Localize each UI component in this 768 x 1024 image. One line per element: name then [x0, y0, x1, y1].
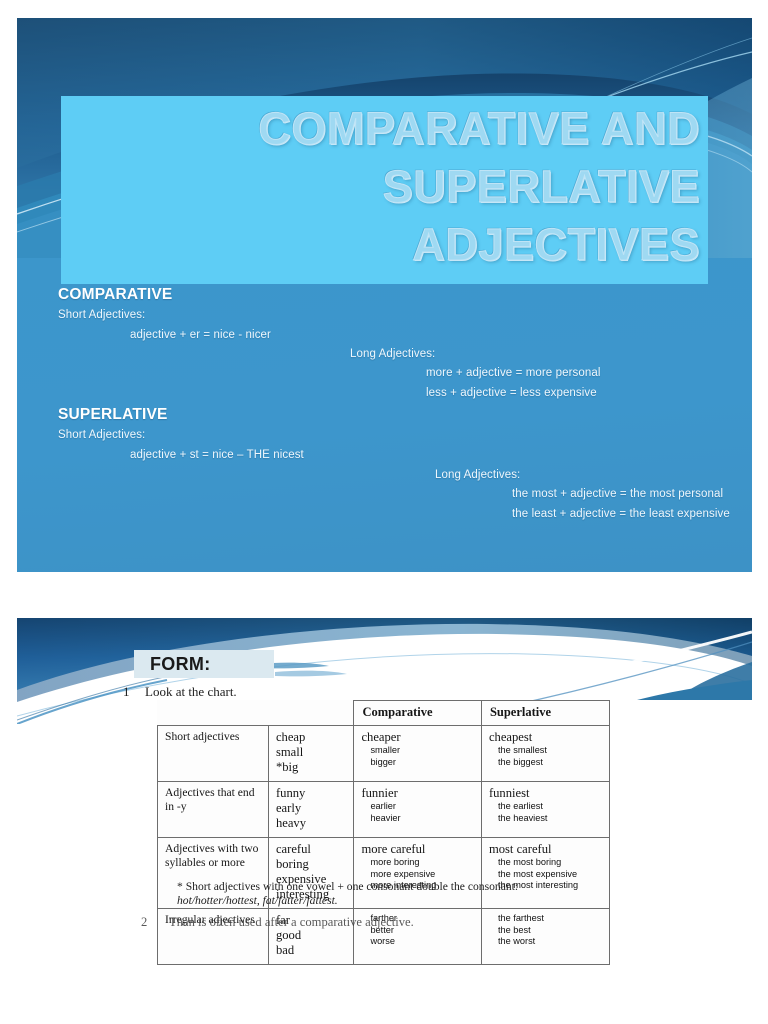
- comparative-main: more careful: [361, 842, 474, 857]
- superlative-alt: the earliest: [489, 801, 602, 813]
- comparative-short-label: Short Adjectives:: [58, 309, 145, 321]
- instruction-1-text: Look at the chart.: [145, 684, 237, 699]
- superlative-alt: the farthest: [489, 913, 602, 925]
- instruction-than-usage: 2Than is often used after a comparative …: [141, 915, 414, 930]
- base-word: funny: [276, 786, 346, 801]
- superlative-alt: the best: [489, 925, 602, 937]
- comparative-alt: bigger: [361, 757, 474, 769]
- superlative-alt: the most expensive: [489, 869, 602, 881]
- comparative-alt: smaller: [361, 745, 474, 757]
- comparative-alt: worse: [361, 936, 474, 948]
- footnote-line-2: hot/hotter/hottest, fat/fatter/fattest.: [177, 894, 647, 908]
- superlative-long-label: Long Adjectives:: [435, 469, 520, 481]
- slide1-content: COMPARATIVE Short Adjectives: adjective …: [17, 18, 752, 572]
- row-base-forms: funny early heavy: [268, 782, 353, 838]
- form-heading-box: FORM:: [134, 650, 274, 678]
- instruction-1-number: 1: [123, 684, 145, 700]
- row-superlative-forms: funniest the earliest the heaviest: [481, 782, 609, 838]
- base-word: careful: [276, 842, 346, 857]
- superlative-short-rule: adjective + st = nice – THE nicest: [130, 449, 304, 461]
- header-blank-2: [268, 701, 353, 726]
- comparative-alt: more boring: [361, 857, 474, 869]
- row-superlative-forms: the farthest the best the worst: [481, 909, 609, 965]
- instruction-look-at-chart: 1Look at the chart.: [123, 684, 237, 700]
- comparative-main: funnier: [361, 786, 474, 801]
- superlative-alt: the worst: [489, 936, 602, 948]
- superlative-short-label: Short Adjectives:: [58, 429, 145, 441]
- superlative-main: cheapest: [489, 730, 602, 745]
- superlative-main: funniest: [489, 786, 602, 801]
- base-word: *big: [276, 760, 346, 775]
- comparative-alt: more expensive: [361, 869, 474, 881]
- heading-comparative: COMPARATIVE: [58, 286, 172, 304]
- slide-form-chart: FORM: 1Look at the chart. Comparative Su…: [17, 612, 752, 1024]
- superlative-alt: the smallest: [489, 745, 602, 757]
- comparative-alt: heavier: [361, 813, 474, 825]
- form-heading-label: FORM:: [150, 654, 210, 675]
- superlative-alt: the most boring: [489, 857, 602, 869]
- base-word: boring: [276, 857, 346, 872]
- base-word: small: [276, 745, 346, 760]
- base-word: heavy: [276, 816, 346, 831]
- table-row: Short adjectives cheap small *big cheape…: [158, 726, 610, 782]
- base-word: early: [276, 801, 346, 816]
- heading-superlative: SUPERLATIVE: [58, 406, 168, 424]
- superlative-alt: the biggest: [489, 757, 602, 769]
- footnote-consonant-rule: * Short adjectives with one vowel + one …: [177, 880, 647, 908]
- instruction-2-number: 2: [141, 915, 169, 930]
- superlative-long-rule-most: the most + adjective = the most personal: [512, 488, 723, 500]
- table-header-row: Comparative Superlative: [158, 701, 610, 726]
- row-label-short-adjectives: Short adjectives: [158, 726, 269, 782]
- comparative-short-rule: adjective + er = nice - nicer: [130, 329, 271, 341]
- header-superlative: Superlative: [481, 701, 609, 726]
- row-base-forms: cheap small *big: [268, 726, 353, 782]
- superlative-alt: the heaviest: [489, 813, 602, 825]
- header-blank-1: [158, 701, 269, 726]
- base-word: cheap: [276, 730, 346, 745]
- header-comparative: Comparative: [354, 701, 482, 726]
- instruction-2-text: Than is often used after a comparative a…: [169, 915, 414, 929]
- comparative-long-rule-less: less + adjective = less expensive: [426, 387, 597, 399]
- footnote-line-1: * Short adjectives with one vowel + one …: [177, 880, 647, 894]
- table-row: Adjectives that end in -y funny early he…: [158, 782, 610, 838]
- comparative-alt: earlier: [361, 801, 474, 813]
- superlative-long-rule-least: the least + adjective = the least expens…: [512, 508, 730, 520]
- slide-comparative-superlative-title: COMPARATIVE AND SUPERLATIVE ADJECTIVES C…: [17, 18, 752, 572]
- superlative-main: most careful: [489, 842, 602, 857]
- base-word: good: [276, 928, 346, 943]
- comparative-long-rule-more: more + adjective = more personal: [426, 367, 601, 379]
- row-comparative-forms: cheaper smaller bigger: [354, 726, 482, 782]
- row-superlative-forms: cheapest the smallest the biggest: [481, 726, 609, 782]
- row-comparative-forms: funnier earlier heavier: [354, 782, 482, 838]
- comparative-long-label: Long Adjectives:: [350, 348, 435, 360]
- comparative-main: cheaper: [361, 730, 474, 745]
- base-word: bad: [276, 943, 346, 958]
- row-label-adjectives-ending-y: Adjectives that end in -y: [158, 782, 269, 838]
